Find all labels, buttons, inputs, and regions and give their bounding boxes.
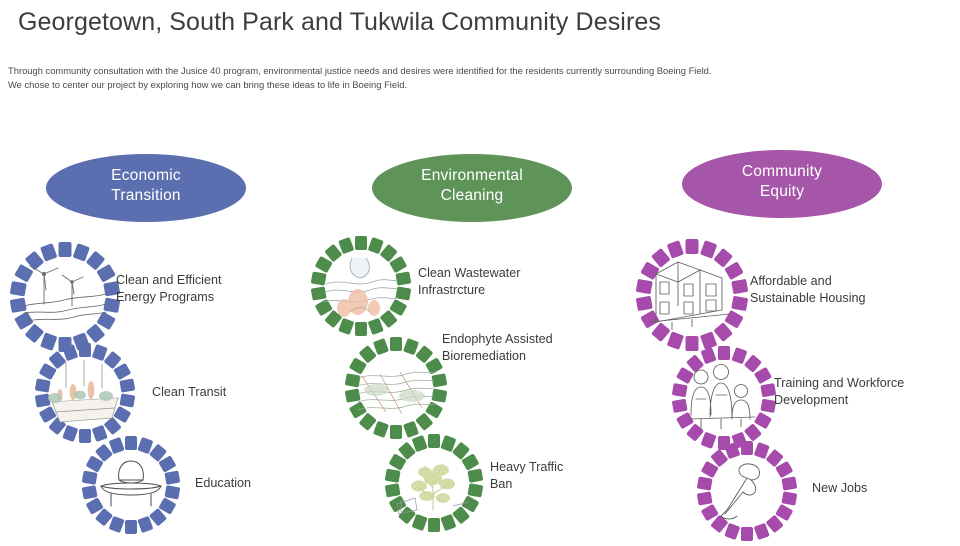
desire-item-new-jobs[interactable]: New Jobs <box>692 436 802 546</box>
subtitle-paragraph: Through community consultation with the … <box>8 64 888 91</box>
subtitle-line-2: We chose to center our project by explor… <box>8 78 888 92</box>
desire-label-line-2: Bioremediation <box>442 348 553 365</box>
dashed-ring-icon <box>77 431 185 539</box>
desire-item-affordable-housing[interactable]: Affordable and Sustainable Housing <box>630 233 754 357</box>
category-header-line-2: Cleaning <box>421 186 523 206</box>
column-environmental-cleaning: Environmental Cleaning <box>300 148 600 540</box>
column-community-equity: Community Equity <box>636 148 936 540</box>
desire-label-line-1: Clean and Efficient <box>116 272 222 289</box>
desire-item-clean-wastewater[interactable]: Clean Wastewater Infrastrcture <box>306 231 416 341</box>
desire-label: Education <box>195 475 251 492</box>
dashed-ring-icon <box>630 233 754 357</box>
column-economic-transition: Economic Transition <box>2 148 302 540</box>
desire-label-line-1: Education <box>195 475 251 492</box>
desire-item-education[interactable]: Education <box>77 431 185 539</box>
slide-canvas: Georgetown, South Park and Tukwila Commu… <box>0 0 960 540</box>
subtitle-line-1: Through community consultation with the … <box>8 64 888 78</box>
dashed-ring-icon <box>692 436 802 546</box>
desire-label-line-1: Heavy Traffic <box>490 459 563 476</box>
desire-label-line-1: Affordable and <box>750 273 866 290</box>
category-header-environmental-cleaning: Environmental Cleaning <box>372 154 572 222</box>
desire-label-line-2: Infrastrcture <box>418 282 520 299</box>
dashed-ring-icon <box>340 332 452 444</box>
category-header-line-1: Community <box>742 162 822 182</box>
desire-label-line-1: Clean Wastewater <box>418 265 520 282</box>
desire-label-line-1: Clean Transit <box>152 384 226 401</box>
desire-label: Heavy Traffic Ban <box>490 459 563 492</box>
desire-label-line-2: Energy Programs <box>116 289 222 306</box>
category-header-line-1: Environmental <box>421 166 523 186</box>
desire-label: Endophyte Assisted Bioremediation <box>442 331 553 364</box>
category-header-community-equity: Community Equity <box>682 150 882 218</box>
dashed-ring-icon <box>306 231 416 341</box>
category-header-line-2: Equity <box>742 182 822 202</box>
desire-label-line-2: Development <box>774 392 904 409</box>
desire-label-line-1: Endophyte Assisted <box>442 331 553 348</box>
dashed-ring-icon <box>380 429 488 537</box>
desire-label-line-1: New Jobs <box>812 480 867 497</box>
desire-label-line-2: Sustainable Housing <box>750 290 866 307</box>
desire-label: New Jobs <box>812 480 867 497</box>
desire-label-line-1: Training and Workforce <box>774 375 904 392</box>
desire-item-endophyte-bioremediation[interactable]: Endophyte Assisted Bioremediation <box>340 332 452 444</box>
desire-label: Clean and Efficient Energy Programs <box>116 272 222 305</box>
desire-label-line-2: Ban <box>490 476 563 493</box>
desire-label: Affordable and Sustainable Housing <box>750 273 866 306</box>
desire-label: Training and Workforce Development <box>774 375 904 408</box>
desire-item-heavy-traffic-ban[interactable]: Heavy Traffic Ban <box>380 429 488 537</box>
category-header-line-1: Economic <box>111 166 181 186</box>
category-header-economic-transition: Economic Transition <box>46 154 246 222</box>
page-title: Georgetown, South Park and Tukwila Commu… <box>18 8 661 37</box>
desire-label: Clean Transit <box>152 384 226 401</box>
category-header-line-2: Transition <box>111 186 181 206</box>
desire-label: Clean Wastewater Infrastrcture <box>418 265 520 298</box>
